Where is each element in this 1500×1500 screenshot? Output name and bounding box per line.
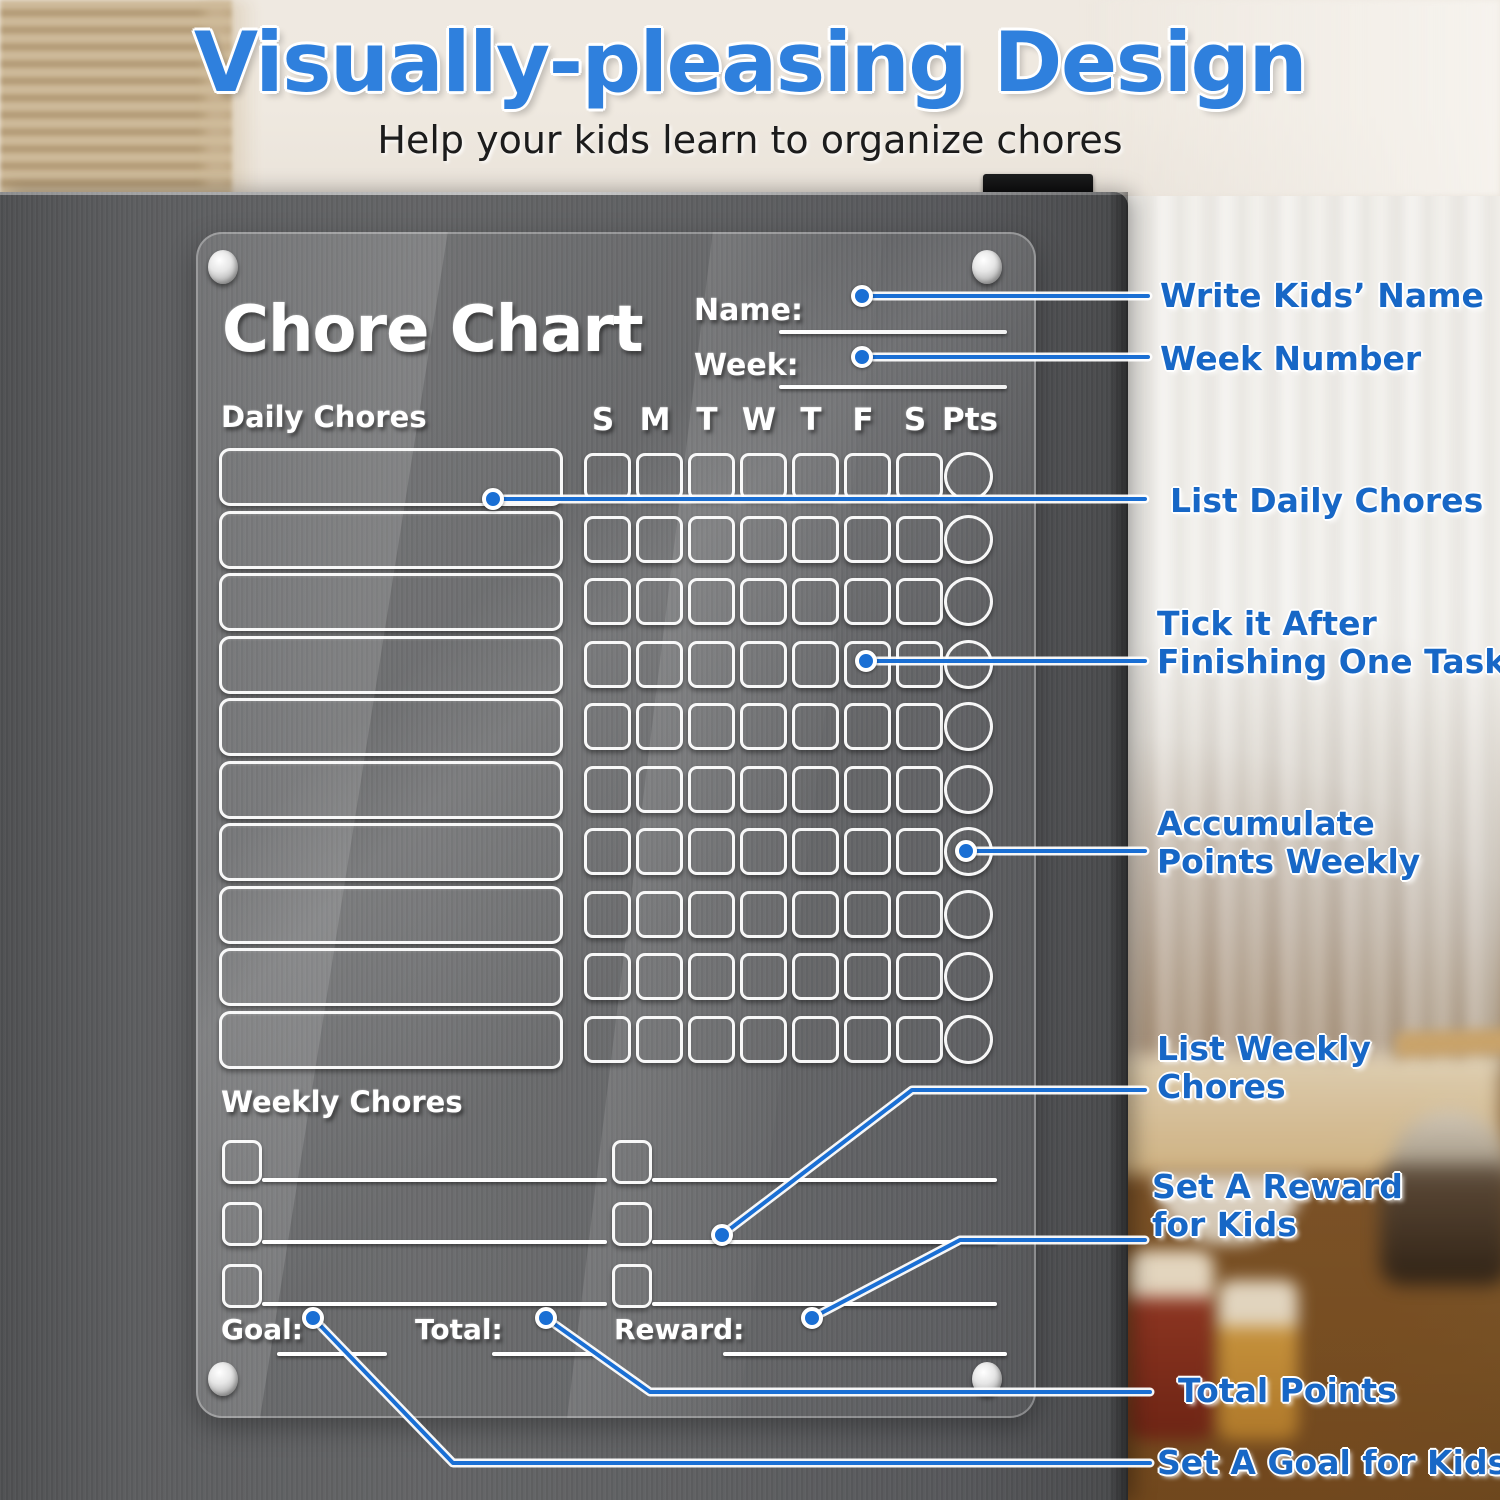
- goal-label: Goal:: [221, 1313, 303, 1346]
- mounting-stud-bottom-left: [208, 1362, 238, 1396]
- daily-tick-checkbox[interactable]: [740, 578, 787, 625]
- daily-tick-checkbox[interactable]: [636, 891, 683, 938]
- daily-tick-checkbox[interactable]: [636, 578, 683, 625]
- weekly-chore-checkbox[interactable]: [222, 1202, 262, 1246]
- daily-tick-checkbox[interactable]: [636, 828, 683, 875]
- reward-label: Reward:: [614, 1313, 744, 1346]
- daily-tick-checkbox[interactable]: [844, 891, 891, 938]
- daily-chore-name-box[interactable]: [219, 761, 563, 819]
- daily-tick-checkbox[interactable]: [896, 891, 943, 938]
- daily-points-circle[interactable]: [944, 890, 993, 939]
- weekly-chore-checkbox[interactable]: [222, 1140, 262, 1184]
- daily-tick-checkbox[interactable]: [844, 641, 891, 688]
- day-header-4: T: [788, 402, 834, 438]
- daily-tick-checkbox[interactable]: [792, 766, 839, 813]
- daily-tick-checkbox[interactable]: [740, 828, 787, 875]
- daily-points-circle[interactable]: [944, 577, 993, 626]
- daily-tick-checkbox[interactable]: [896, 578, 943, 625]
- daily-tick-checkbox[interactable]: [584, 578, 631, 625]
- daily-points-circle[interactable]: [944, 640, 993, 689]
- daily-tick-checkbox[interactable]: [740, 516, 787, 563]
- daily-tick-checkbox[interactable]: [636, 766, 683, 813]
- daily-chore-name-box[interactable]: [219, 636, 563, 694]
- daily-tick-checkbox[interactable]: [896, 766, 943, 813]
- day-header-0: S: [580, 402, 626, 438]
- daily-tick-checkbox[interactable]: [740, 453, 787, 500]
- daily-tick-checkbox[interactable]: [792, 703, 839, 750]
- daily-tick-checkbox[interactable]: [740, 641, 787, 688]
- daily-chores-heading: Daily Chores: [221, 400, 427, 434]
- daily-tick-checkbox[interactable]: [636, 703, 683, 750]
- daily-chore-name-box[interactable]: [219, 1011, 563, 1069]
- daily-tick-checkbox[interactable]: [792, 828, 839, 875]
- daily-tick-checkbox[interactable]: [636, 1016, 683, 1063]
- daily-points-circle[interactable]: [944, 702, 993, 751]
- daily-tick-checkbox[interactable]: [896, 516, 943, 563]
- weekly-chore-write-line[interactable]: [652, 1240, 997, 1244]
- daily-tick-checkbox[interactable]: [584, 453, 631, 500]
- daily-chore-name-box[interactable]: [219, 886, 563, 944]
- daily-tick-checkbox[interactable]: [636, 641, 683, 688]
- daily-chore-name-box[interactable]: [219, 511, 563, 569]
- daily-points-circle[interactable]: [944, 515, 993, 564]
- daily-tick-checkbox[interactable]: [792, 891, 839, 938]
- weekly-chore-checkbox[interactable]: [222, 1264, 262, 1308]
- weekly-chore-checkbox[interactable]: [612, 1264, 652, 1308]
- day-header-5: F: [840, 402, 886, 438]
- daily-tick-checkbox[interactable]: [688, 453, 735, 500]
- mounting-stud-bottom-right: [972, 1362, 1002, 1396]
- daily-tick-checkbox[interactable]: [688, 641, 735, 688]
- daily-tick-checkbox[interactable]: [688, 766, 735, 813]
- product-feature-image: Visually-pleasing Design Help your kids …: [0, 0, 1500, 1500]
- goal-input-line[interactable]: [277, 1352, 387, 1356]
- daily-tick-checkbox[interactable]: [844, 516, 891, 563]
- daily-tick-checkbox[interactable]: [896, 1016, 943, 1063]
- daily-tick-checkbox[interactable]: [584, 703, 631, 750]
- daily-tick-checkbox[interactable]: [844, 953, 891, 1000]
- daily-tick-checkbox[interactable]: [792, 1016, 839, 1063]
- daily-tick-checkbox[interactable]: [896, 641, 943, 688]
- daily-tick-checkbox[interactable]: [688, 891, 735, 938]
- daily-tick-checkbox[interactable]: [688, 953, 735, 1000]
- weekly-chore-checkbox[interactable]: [612, 1140, 652, 1184]
- jar-amber: [1218, 1280, 1298, 1440]
- daily-chore-name-box[interactable]: [219, 948, 563, 1006]
- fridge-handle: [983, 174, 1093, 194]
- daily-tick-checkbox[interactable]: [844, 703, 891, 750]
- daily-tick-checkbox[interactable]: [792, 453, 839, 500]
- daily-tick-checkbox[interactable]: [740, 703, 787, 750]
- weekly-chore-write-line[interactable]: [262, 1240, 607, 1244]
- weekly-chore-write-line[interactable]: [262, 1178, 607, 1182]
- daily-tick-checkbox[interactable]: [636, 453, 683, 500]
- daily-tick-checkbox[interactable]: [896, 453, 943, 500]
- daily-tick-checkbox[interactable]: [688, 516, 735, 563]
- daily-points-circle[interactable]: [944, 765, 993, 814]
- wood-shelf: [1395, 1028, 1500, 1059]
- daily-tick-checkbox[interactable]: [584, 1016, 631, 1063]
- week-field-label: Week:: [694, 348, 799, 383]
- page-title: Visually-pleasing Design: [0, 14, 1500, 111]
- fridge-right-edge: [1110, 192, 1128, 1500]
- total-label: Total:: [415, 1313, 503, 1346]
- daily-tick-checkbox[interactable]: [792, 516, 839, 563]
- mounting-stud-top-right: [972, 250, 1002, 284]
- daily-tick-checkbox[interactable]: [688, 1016, 735, 1063]
- name-field-input-line[interactable]: [779, 330, 1007, 334]
- daily-tick-checkbox[interactable]: [688, 828, 735, 875]
- daily-tick-checkbox[interactable]: [792, 641, 839, 688]
- daily-chore-name-box[interactable]: [219, 448, 563, 506]
- daily-points-circle[interactable]: [944, 452, 993, 501]
- pot-object: [1380, 1165, 1500, 1285]
- daily-tick-checkbox[interactable]: [896, 828, 943, 875]
- daily-tick-checkbox[interactable]: [896, 703, 943, 750]
- day-header-1: M: [632, 402, 678, 438]
- weekly-chore-write-line[interactable]: [652, 1178, 997, 1182]
- day-header-3: W: [736, 402, 782, 438]
- daily-tick-checkbox[interactable]: [584, 828, 631, 875]
- daily-tick-checkbox[interactable]: [896, 953, 943, 1000]
- week-field-input-line[interactable]: [779, 385, 1007, 389]
- daily-points-circle[interactable]: [944, 952, 993, 1001]
- daily-tick-checkbox[interactable]: [584, 641, 631, 688]
- daily-tick-checkbox[interactable]: [584, 891, 631, 938]
- daily-points-circle[interactable]: [944, 1015, 993, 1064]
- daily-tick-checkbox[interactable]: [844, 1016, 891, 1063]
- day-header-2: T: [684, 402, 730, 438]
- daily-tick-checkbox[interactable]: [844, 453, 891, 500]
- day-header-6: S: [892, 402, 938, 438]
- mounting-stud-top-left: [208, 250, 238, 284]
- daily-tick-checkbox[interactable]: [792, 953, 839, 1000]
- daily-tick-checkbox[interactable]: [740, 1016, 787, 1063]
- daily-tick-checkbox[interactable]: [584, 766, 631, 813]
- jar-red: [1128, 1250, 1214, 1440]
- daily-points-circle[interactable]: [944, 827, 993, 876]
- daily-tick-checkbox[interactable]: [844, 578, 891, 625]
- daily-chore-name-box[interactable]: [219, 823, 563, 881]
- day-header-7: Pts: [942, 402, 988, 438]
- daily-tick-checkbox[interactable]: [844, 828, 891, 875]
- daily-tick-checkbox[interactable]: [584, 953, 631, 1000]
- daily-tick-checkbox[interactable]: [636, 516, 683, 563]
- daily-chore-name-box[interactable]: [219, 573, 563, 631]
- reward-input-line[interactable]: [723, 1352, 1007, 1356]
- daily-tick-checkbox[interactable]: [844, 766, 891, 813]
- daily-tick-checkbox[interactable]: [584, 516, 631, 563]
- weekly-chores-heading: Weekly Chores: [221, 1085, 463, 1119]
- daily-tick-checkbox[interactable]: [740, 953, 787, 1000]
- weekly-chore-write-line[interactable]: [262, 1302, 607, 1306]
- weekly-chore-write-line[interactable]: [652, 1302, 997, 1306]
- daily-tick-checkbox[interactable]: [688, 703, 735, 750]
- daily-tick-checkbox[interactable]: [688, 578, 735, 625]
- weekly-chore-checkbox[interactable]: [612, 1202, 652, 1246]
- daily-tick-checkbox[interactable]: [636, 953, 683, 1000]
- chore-chart-title: Chore Chart: [222, 293, 643, 367]
- total-input-line[interactable]: [492, 1352, 597, 1356]
- daily-tick-checkbox[interactable]: [740, 891, 787, 938]
- page-subtitle: Help your kids learn to organize chores: [0, 118, 1500, 162]
- name-field-label: Name:: [694, 293, 803, 328]
- daily-tick-checkbox[interactable]: [792, 578, 839, 625]
- daily-chore-name-box[interactable]: [219, 698, 563, 756]
- daily-tick-checkbox[interactable]: [740, 766, 787, 813]
